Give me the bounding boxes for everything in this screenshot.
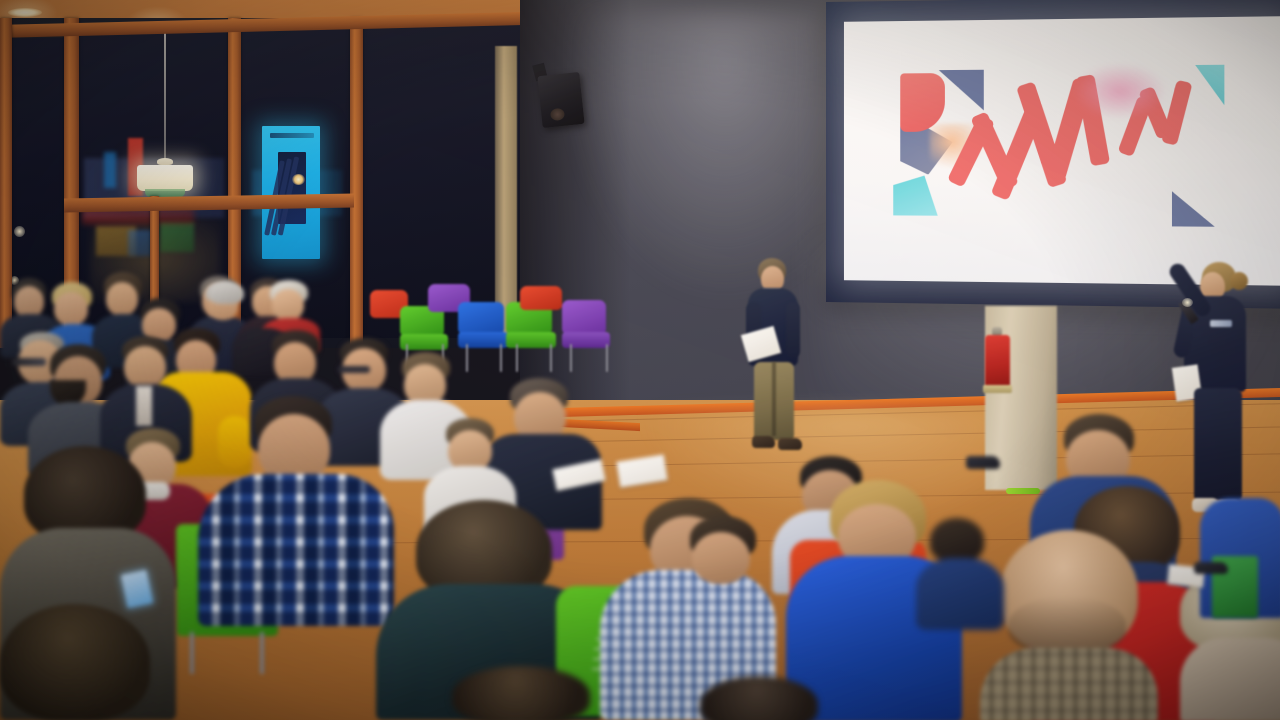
pendant-lamp-cord — [164, 32, 166, 164]
logo-pink-haze — [1073, 62, 1168, 120]
presentation-photo: Conference presentation in an auditorium… — [0, 0, 1280, 720]
audience-check-jacket — [980, 648, 1158, 720]
audience-member-bald — [980, 530, 1160, 720]
audience-hair — [0, 604, 150, 720]
chair-leg — [190, 632, 194, 674]
presenter-shoe — [752, 436, 775, 448]
audience-head — [124, 346, 166, 388]
chair-leg — [500, 344, 502, 372]
logo-stroke — [900, 73, 945, 132]
audience-hair — [700, 676, 818, 720]
poster-title-bar — [270, 133, 314, 138]
audience-member — [452, 666, 592, 720]
logo-triangle-blue — [939, 69, 984, 110]
chair-leg — [550, 344, 552, 372]
audience-shoe — [1194, 562, 1228, 574]
audience-hair — [930, 518, 984, 562]
illuminated-poster — [262, 126, 320, 259]
window-mullion — [350, 18, 363, 348]
chair-green-seat — [506, 332, 556, 348]
audience-member — [916, 518, 1006, 628]
chair-leg — [606, 344, 608, 372]
fire-extinguisher-bracket — [983, 385, 1012, 393]
logo-triangle-cyan — [893, 175, 938, 216]
audience-hair — [452, 666, 590, 720]
audience-member-plaid-shirt — [198, 396, 398, 626]
audience-head — [692, 532, 750, 584]
audience-torso — [916, 558, 1004, 630]
audience-knit-top — [1180, 638, 1280, 720]
poster-highlight — [292, 174, 305, 185]
microphone-highlight — [1182, 298, 1193, 307]
logo-triangle-blue — [1172, 192, 1215, 227]
audience-head — [54, 292, 88, 326]
audience-hair-fringe — [1008, 596, 1126, 654]
slide-logo — [887, 71, 1224, 226]
chair-red — [520, 286, 562, 310]
loudspeaker-icon — [537, 72, 584, 128]
audience-shirt — [136, 386, 152, 426]
scene-title: Conference presentation in an auditorium — [0, 0, 1, 1]
host-lapel-badge — [1210, 320, 1232, 327]
interior-blue-panel — [104, 152, 116, 188]
presenter-trouser-seam — [772, 362, 776, 436]
chair-blue — [458, 302, 504, 334]
chair-purple — [562, 300, 606, 334]
audience-member — [0, 604, 190, 720]
audience-plaid-shirt — [198, 474, 394, 626]
pendant-lamp-cap — [157, 158, 173, 165]
pendant-lamp-shade — [137, 165, 193, 191]
fire-extinguisher-icon — [985, 335, 1010, 388]
exterior-light — [14, 226, 25, 237]
chair-leg — [516, 344, 518, 372]
host-trousers — [1194, 388, 1242, 500]
chair-leg — [260, 632, 264, 674]
audience-shoe — [966, 456, 1000, 469]
glass-reflection — [160, 222, 194, 252]
presenter-arm — [786, 302, 800, 358]
audience-member — [700, 676, 820, 720]
chair-leg — [570, 344, 572, 372]
presenter-shoe — [778, 438, 802, 450]
host-hair-bun — [1230, 272, 1248, 290]
presenter — [742, 258, 822, 470]
projected-slide — [844, 16, 1280, 286]
